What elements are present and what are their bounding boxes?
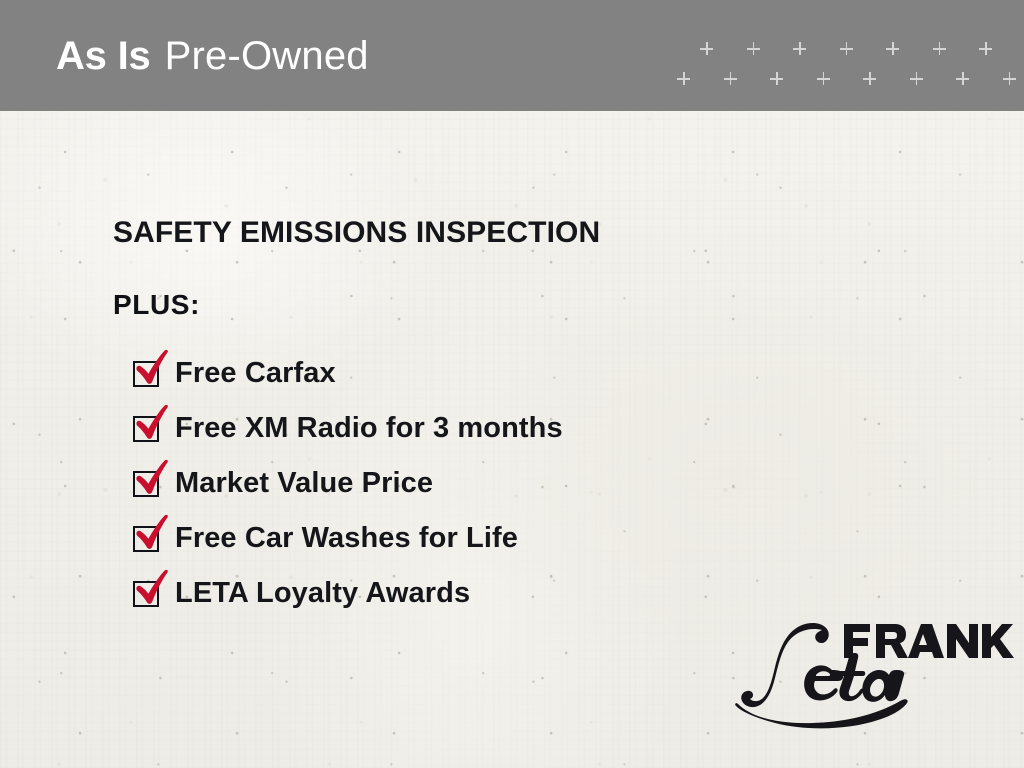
plus-mark-icon — [956, 72, 969, 85]
benefits-checklist: Free CarfaxFree XM Radio for 3 monthsMar… — [133, 346, 893, 621]
plus-mark-icon — [840, 42, 853, 55]
checkbox[interactable] — [133, 581, 159, 607]
plus-mark-icon — [747, 42, 760, 55]
frank-leta-logo — [726, 618, 936, 728]
checklist-item[interactable]: Free Carfax — [133, 346, 893, 401]
page-title: As IsPre-Owned — [56, 36, 369, 76]
plus-section-label: PLUS: — [113, 289, 200, 321]
checkbox[interactable] — [133, 361, 159, 387]
check-icon — [136, 569, 168, 603]
plus-mark-icon — [1003, 72, 1016, 85]
check-icon — [136, 349, 168, 383]
checklist-item-label: LETA Loyalty Awards — [175, 577, 470, 610]
checklist-item-label: Market Value Price — [175, 467, 433, 500]
checkbox[interactable] — [133, 526, 159, 552]
checklist-item[interactable]: Market Value Price — [133, 456, 893, 511]
checklist-item[interactable]: Free XM Radio for 3 months — [133, 401, 893, 456]
check-icon — [136, 514, 168, 548]
plus-mark-icon — [677, 72, 690, 85]
slide-canvas: As IsPre-Owned SAFETY EMISSIONS INSPECTI… — [0, 0, 1024, 768]
plus-mark-icon — [933, 42, 946, 55]
checklist-item[interactable]: LETA Loyalty Awards — [133, 566, 893, 621]
plus-pattern-decoration — [674, 40, 1004, 92]
plus-pattern-row-top — [674, 40, 1004, 66]
checklist-item-label: Free XM Radio for 3 months — [175, 412, 563, 445]
page-title-strong: As Is — [56, 34, 151, 78]
check-icon — [136, 404, 168, 438]
plus-mark-icon — [863, 72, 876, 85]
checkbox[interactable] — [133, 471, 159, 497]
checkbox[interactable] — [133, 416, 159, 442]
plus-mark-icon — [979, 42, 992, 55]
checklist-item-label: Free Car Washes for Life — [175, 522, 518, 555]
checklist-item[interactable]: Free Car Washes for Life — [133, 511, 893, 566]
checklist-item-label: Free Carfax — [175, 357, 336, 390]
logo-script-e — [804, 665, 843, 700]
plus-mark-icon — [886, 42, 899, 55]
check-icon — [136, 459, 168, 493]
header-bar: As IsPre-Owned — [0, 0, 1024, 111]
logo-script-a — [862, 670, 904, 702]
page-title-light: Pre-Owned — [165, 34, 369, 78]
headline-text: SAFETY EMISSIONS INSPECTION — [113, 216, 600, 250]
plus-mark-icon — [910, 72, 923, 85]
plus-mark-icon — [770, 72, 783, 85]
plus-mark-icon — [793, 42, 806, 55]
plus-mark-icon — [724, 72, 737, 85]
plus-pattern-row-bottom — [674, 66, 1004, 92]
logo-frank-wordmark — [844, 624, 1014, 658]
plus-mark-icon — [700, 42, 713, 55]
plus-mark-icon — [817, 72, 830, 85]
